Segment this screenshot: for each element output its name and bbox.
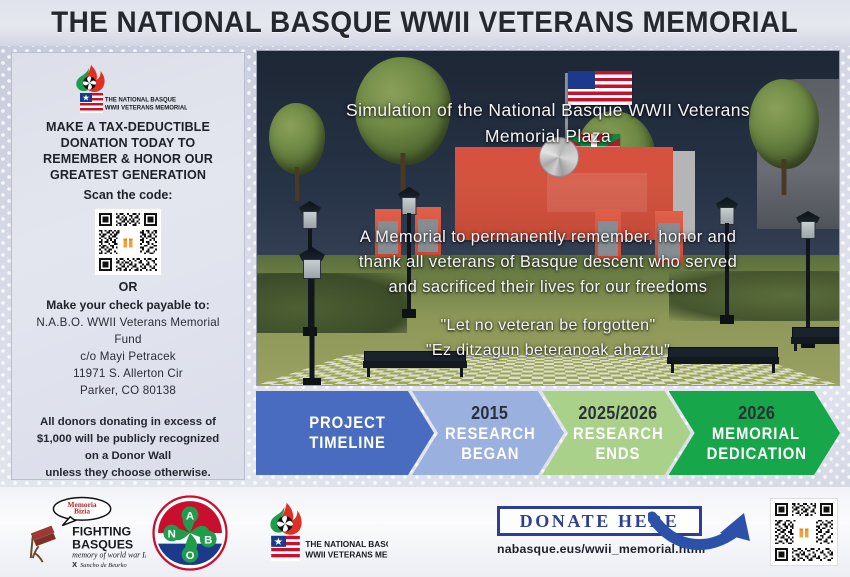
timeline-year: 2015 bbox=[471, 403, 508, 424]
quote-basque: "Ez ditzagun beteranoak ahaztu" bbox=[257, 338, 839, 363]
timeline-segment-1: 2015 RESEARCH BEGAN bbox=[412, 391, 564, 475]
nabo-letter-o: O bbox=[186, 550, 195, 562]
donation-headline: MAKE A TAX-DEDUCTIBLE DONATION TODAY TO … bbox=[23, 119, 233, 183]
quote-english: "Let no veteran be forgotten" bbox=[257, 313, 839, 338]
nbwm-footer-line-2: WWII VETERANS MEMORIAL bbox=[305, 550, 388, 559]
memorial-simulation-image: Simulation of the National Basque WWII V… bbox=[256, 50, 840, 386]
donor-wall-note: All donors donating in excess of $1,000 … bbox=[21, 414, 235, 482]
simulation-body-line-2: thank all veterans of Basque descent who… bbox=[279, 250, 817, 275]
donor-wall-line-1: All donors donating in excess of bbox=[21, 414, 235, 431]
simulation-title-line-2: Memorial Plaza bbox=[293, 123, 803, 149]
svg-text:WWII VETERANS MEMORIAL: WWII VETERANS MEMORIAL bbox=[105, 104, 187, 111]
poster-header: THE NATIONAL BASQUE WWII VETERANS MEMORI… bbox=[0, 0, 850, 46]
fighting-word: FIGHTING bbox=[72, 524, 131, 538]
nbwm-logo: THE NATIONAL BASQUE WWII VETERANS MEMORI… bbox=[21, 63, 235, 115]
simulation-quotes: "Let no veteran be forgotten" "Ez ditzag… bbox=[257, 313, 839, 363]
basques-word: BASQUES bbox=[72, 537, 133, 551]
svg-text:X: X bbox=[72, 560, 77, 569]
donation-sidebar: THE NATIONAL BASQUE WWII VETERANS MEMORI… bbox=[11, 52, 245, 480]
timeline-segment-2: 2025/2026 RESEARCH ENDS bbox=[542, 391, 691, 475]
project-timeline: PROJECT TIMELINE 2015 RESEARCH BEGAN 202… bbox=[256, 391, 840, 475]
memoria-bizia-line-2: Bizia bbox=[74, 507, 90, 516]
nabo-letter-n: N bbox=[168, 529, 176, 541]
timeline-label-line-1: RESEARCH bbox=[445, 424, 536, 444]
timeline-label-line-1: PROJECT bbox=[309, 413, 385, 433]
page-title: THE NATIONAL BASQUE WWII VETERANS MEMORI… bbox=[52, 8, 799, 38]
nbwm-logo-icon: THE NATIONAL BASQUE WWII VETERANS MEMORI… bbox=[69, 63, 187, 115]
timeline-label-line-2: ENDS bbox=[596, 444, 641, 464]
soldier-with-flag-icon bbox=[31, 526, 56, 563]
wall-inscription bbox=[547, 173, 647, 212]
donor-wall-line-2: $1,000 will be publicly recognized bbox=[21, 431, 235, 448]
donor-wall-line-4: unless they choose otherwise. bbox=[21, 465, 235, 482]
timeline-label-line-2: TIMELINE bbox=[309, 433, 386, 453]
qr-icon bbox=[97, 211, 159, 273]
timeline-label-line-1: RESEARCH bbox=[573, 424, 664, 444]
poster-background: THE NATIONAL BASQUE WWII VETERANS MEMORI… bbox=[0, 0, 850, 577]
nabo-logo: A N B O bbox=[152, 495, 228, 571]
payee-city-state-zip: Parker, CO 80138 bbox=[21, 382, 235, 399]
footer-donation-qr-code[interactable] bbox=[770, 498, 838, 566]
payee-street: 11971 S. Allerton Cir bbox=[21, 365, 235, 382]
simulation-description: A Memorial to permanently remember, hono… bbox=[257, 225, 839, 300]
fb-credit: Sancho de Beurko bbox=[80, 562, 127, 569]
simulation-body-line-3: and sacrificed their lives for our freed… bbox=[279, 275, 817, 300]
qr-icon bbox=[773, 501, 835, 563]
svg-text:THE NATIONAL BASQUE: THE NATIONAL BASQUE bbox=[105, 96, 176, 103]
payee-line-2: Fund bbox=[21, 331, 235, 348]
nbwm-footer-logo: THE NATIONAL BASQUE WWII VETERANS MEMORI… bbox=[258, 495, 388, 569]
timeline-label-line-2: BEGAN bbox=[461, 444, 519, 464]
timeline-year: 2025/2026 bbox=[579, 403, 658, 424]
nbwm-footer-line-1: THE NATIONAL BASQUE bbox=[305, 540, 388, 549]
scan-code-label: Scan the code: bbox=[21, 188, 235, 202]
simulation-body-line-1: A Memorial to permanently remember, hono… bbox=[279, 225, 817, 250]
timeline-segment-3: 2026 MEMORIAL DEDICATION bbox=[669, 391, 840, 475]
nabo-letter-a: A bbox=[186, 510, 194, 522]
timeline-year: 2026 bbox=[738, 403, 775, 424]
payee-attention: c/o Mayi Petracek bbox=[21, 348, 235, 365]
us-flag-canton bbox=[568, 71, 595, 89]
fb-tagline: memory of world war II bbox=[72, 551, 146, 560]
timeline-label-line-2: DEDICATION bbox=[706, 444, 806, 464]
timeline-label-line-1: MEMORIAL bbox=[712, 424, 800, 444]
simulation-title: Simulation of the National Basque WWII V… bbox=[257, 97, 839, 149]
payee-line-1: N.A.B.O. WWII Veterans Memorial bbox=[21, 314, 235, 331]
poster-footer: Memoria Bizia FIGHTING BASQUES memory of… bbox=[0, 487, 850, 577]
nabo-letter-b: B bbox=[204, 535, 212, 547]
or-label: OR bbox=[21, 280, 235, 294]
fighting-basques-logo: Memoria Bizia FIGHTING BASQUES memory of… bbox=[26, 495, 146, 569]
curved-arrow-icon bbox=[648, 507, 758, 553]
timeline-segment-0: PROJECT TIMELINE bbox=[256, 391, 434, 475]
check-payable-label: Make your check payable to: bbox=[21, 297, 235, 314]
donor-wall-line-3: on a Donor Wall bbox=[21, 448, 235, 465]
simulation-title-line-1: Simulation of the National Basque WWII V… bbox=[293, 97, 803, 123]
donation-qr-code[interactable] bbox=[94, 208, 162, 276]
